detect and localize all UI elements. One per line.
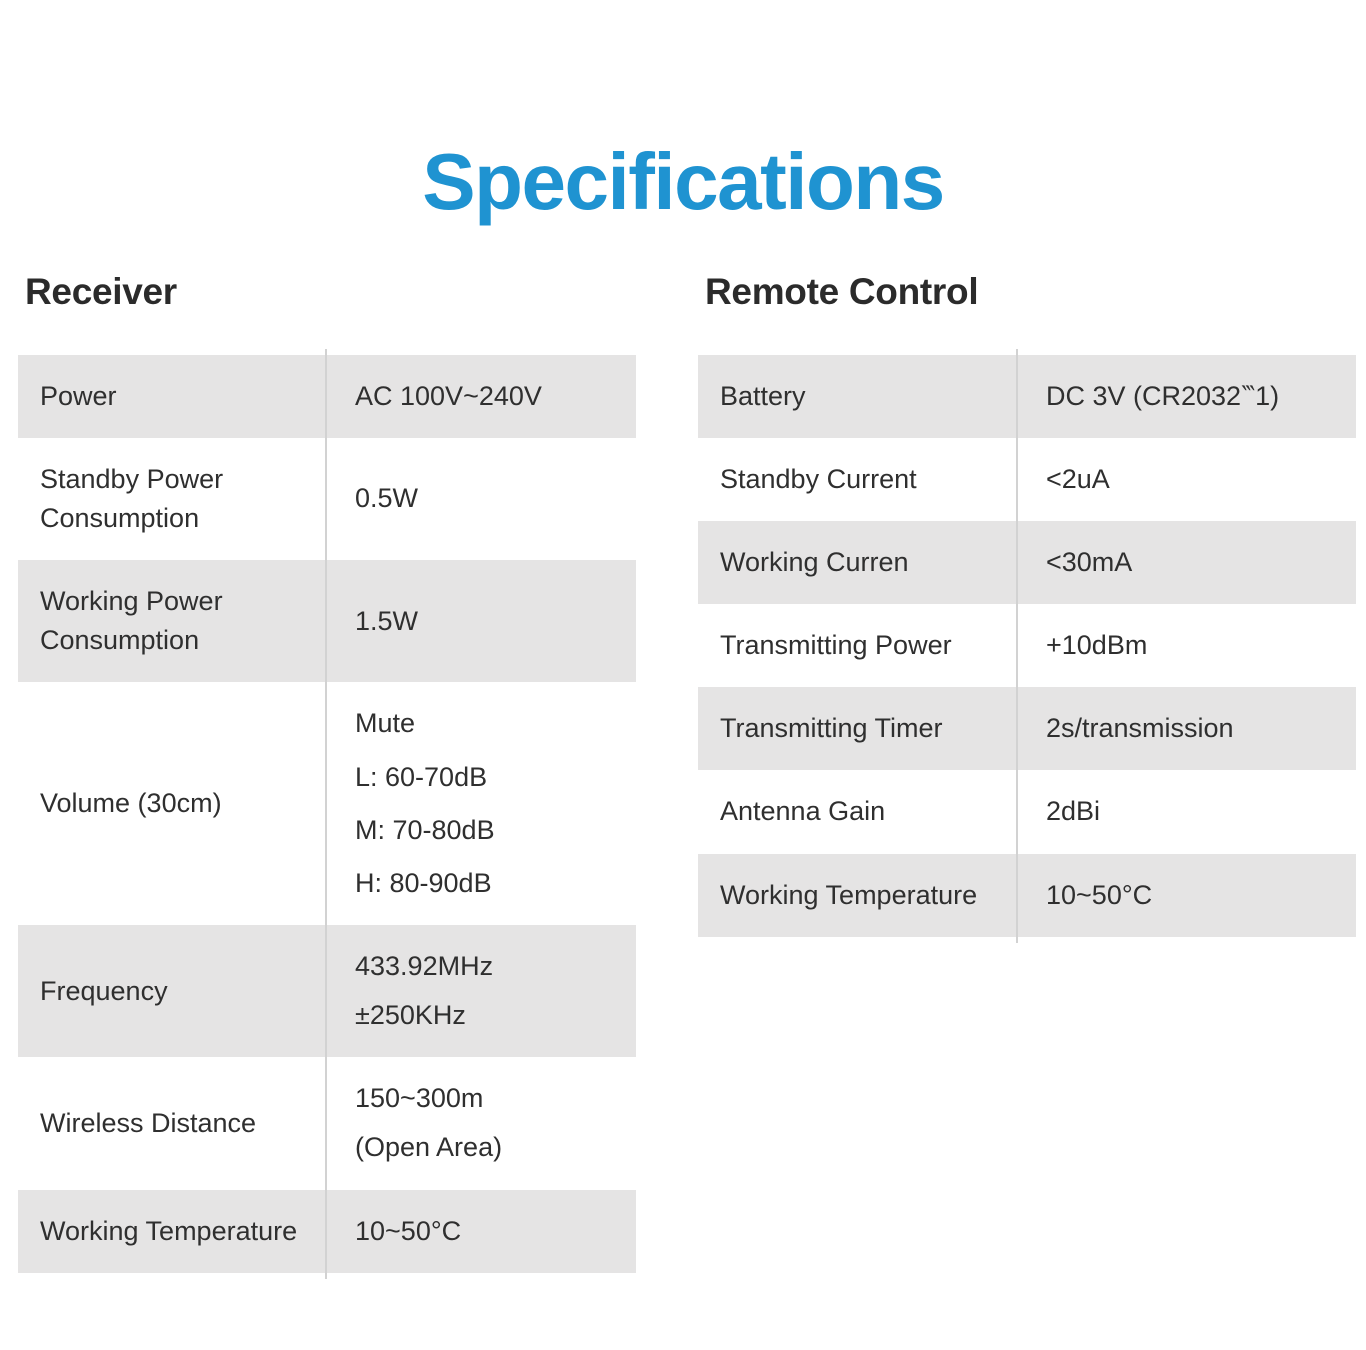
spec-value-cell: DC 3V (CR2032‷1) bbox=[1016, 355, 1356, 438]
spec-label-cell: Battery bbox=[698, 355, 1016, 438]
spec-value-cell: 10~50°C bbox=[325, 1190, 636, 1273]
spec-value-cell: <2uA bbox=[1016, 438, 1356, 521]
spec-value-cell: 10~50°C bbox=[1016, 854, 1356, 937]
spec-value-line: +10dBm bbox=[1046, 626, 1356, 665]
spec-value-cell: 0.5W bbox=[325, 438, 636, 560]
table-row: Standby Current<2uA bbox=[698, 438, 1356, 521]
table-row: Antenna Gain2dBi bbox=[698, 770, 1356, 853]
table-row: Working Temperature10~50°C bbox=[698, 854, 1356, 937]
spec-value-line: 150~300m bbox=[355, 1079, 636, 1118]
spec-value-line: M: 70-80dB bbox=[355, 811, 636, 850]
spec-value-line: DC 3V (CR2032‷1) bbox=[1046, 377, 1356, 416]
spec-value-line: AC 100V~240V bbox=[355, 377, 636, 416]
spec-value-cell: +10dBm bbox=[1016, 604, 1356, 687]
spec-value-line: 2s/transmission bbox=[1046, 709, 1356, 748]
table-row: Working Power Consumption1.5W bbox=[18, 560, 636, 682]
spec-value-line: ±250KHz bbox=[355, 996, 636, 1035]
spec-section-receiver: Receiver PowerAC 100V~240VStandby Power … bbox=[18, 272, 636, 1273]
table-row: BatteryDC 3V (CR2032‷1) bbox=[698, 355, 1356, 438]
spec-label-cell: Transmitting Timer bbox=[698, 687, 1016, 770]
spec-label-cell: Working Curren bbox=[698, 521, 1016, 604]
table-row: Working Curren<30mA bbox=[698, 521, 1356, 604]
table-row: Wireless Distance150~300m(Open Area) bbox=[18, 1057, 636, 1189]
spec-table-remote-control: BatteryDC 3V (CR2032‷1)Standby Current<2… bbox=[698, 355, 1356, 937]
spec-value-line: <30mA bbox=[1046, 543, 1356, 582]
spec-value-cell: MuteL: 60-70dBM: 70-80dBH: 80-90dB bbox=[325, 682, 636, 925]
spec-value-line: 10~50°C bbox=[355, 1212, 636, 1251]
spec-value-line: H: 80-90dB bbox=[355, 864, 636, 903]
spec-value-cell: 2s/transmission bbox=[1016, 687, 1356, 770]
page-title: Specifications bbox=[0, 140, 1366, 224]
spec-table-remote-control-body: BatteryDC 3V (CR2032‷1)Standby Current<2… bbox=[698, 355, 1356, 937]
section-heading-receiver: Receiver bbox=[25, 272, 636, 313]
spec-value-line: 433.92MHz bbox=[355, 947, 636, 986]
spec-label-cell: Power bbox=[18, 355, 325, 438]
spec-value-cell: 2dBi bbox=[1016, 770, 1356, 853]
spec-value-line: 1.5W bbox=[355, 602, 636, 641]
spec-value-cell: 150~300m(Open Area) bbox=[325, 1057, 636, 1189]
spec-value-line: 0.5W bbox=[355, 479, 636, 518]
spec-value-line: L: 60-70dB bbox=[355, 758, 636, 797]
table-row: PowerAC 100V~240V bbox=[18, 355, 636, 438]
spec-value-line: (Open Area) bbox=[355, 1128, 636, 1167]
section-heading-remote-control: Remote Control bbox=[705, 272, 1356, 313]
table-row: Working Temperature10~50°C bbox=[18, 1190, 636, 1273]
table-row: Standby Power Consumption0.5W bbox=[18, 438, 636, 560]
spec-label-cell: Working Temperature bbox=[18, 1190, 325, 1273]
spec-table-receiver-body: PowerAC 100V~240VStandby Power Consumpti… bbox=[18, 355, 636, 1273]
spec-value-cell: 433.92MHz±250KHz bbox=[325, 925, 636, 1057]
spec-label-cell: Standby Current bbox=[698, 438, 1016, 521]
spec-label-cell: Working Temperature bbox=[698, 854, 1016, 937]
table-row: Frequency433.92MHz±250KHz bbox=[18, 925, 636, 1057]
table-row: Transmitting Power+10dBm bbox=[698, 604, 1356, 687]
spec-section-remote-control: Remote Control BatteryDC 3V (CR2032‷1)St… bbox=[698, 272, 1356, 937]
spec-label-cell: Transmitting Power bbox=[698, 604, 1016, 687]
spec-label-cell: Wireless Distance bbox=[18, 1057, 325, 1189]
spec-label-cell: Volume (30cm) bbox=[18, 682, 325, 925]
spec-label-cell: Working Power Consumption bbox=[18, 560, 325, 682]
spec-label-cell: Antenna Gain bbox=[698, 770, 1016, 853]
spec-table-receiver: PowerAC 100V~240VStandby Power Consumpti… bbox=[18, 355, 636, 1273]
spec-value-line: Mute bbox=[355, 704, 636, 743]
specifications-page: Specifications Receiver PowerAC 100V~240… bbox=[0, 0, 1366, 1350]
spec-label-cell: Standby Power Consumption bbox=[18, 438, 325, 560]
spec-value-line: <2uA bbox=[1046, 460, 1356, 499]
spec-value-cell: <30mA bbox=[1016, 521, 1356, 604]
table-row: Volume (30cm)MuteL: 60-70dBM: 70-80dBH: … bbox=[18, 682, 636, 925]
spec-value-cell: AC 100V~240V bbox=[325, 355, 636, 438]
spec-label-cell: Frequency bbox=[18, 925, 325, 1057]
table-row: Transmitting Timer2s/transmission bbox=[698, 687, 1356, 770]
spec-value-cell: 1.5W bbox=[325, 560, 636, 682]
spec-value-line: 2dBi bbox=[1046, 792, 1356, 831]
spec-value-line: 10~50°C bbox=[1046, 876, 1356, 915]
